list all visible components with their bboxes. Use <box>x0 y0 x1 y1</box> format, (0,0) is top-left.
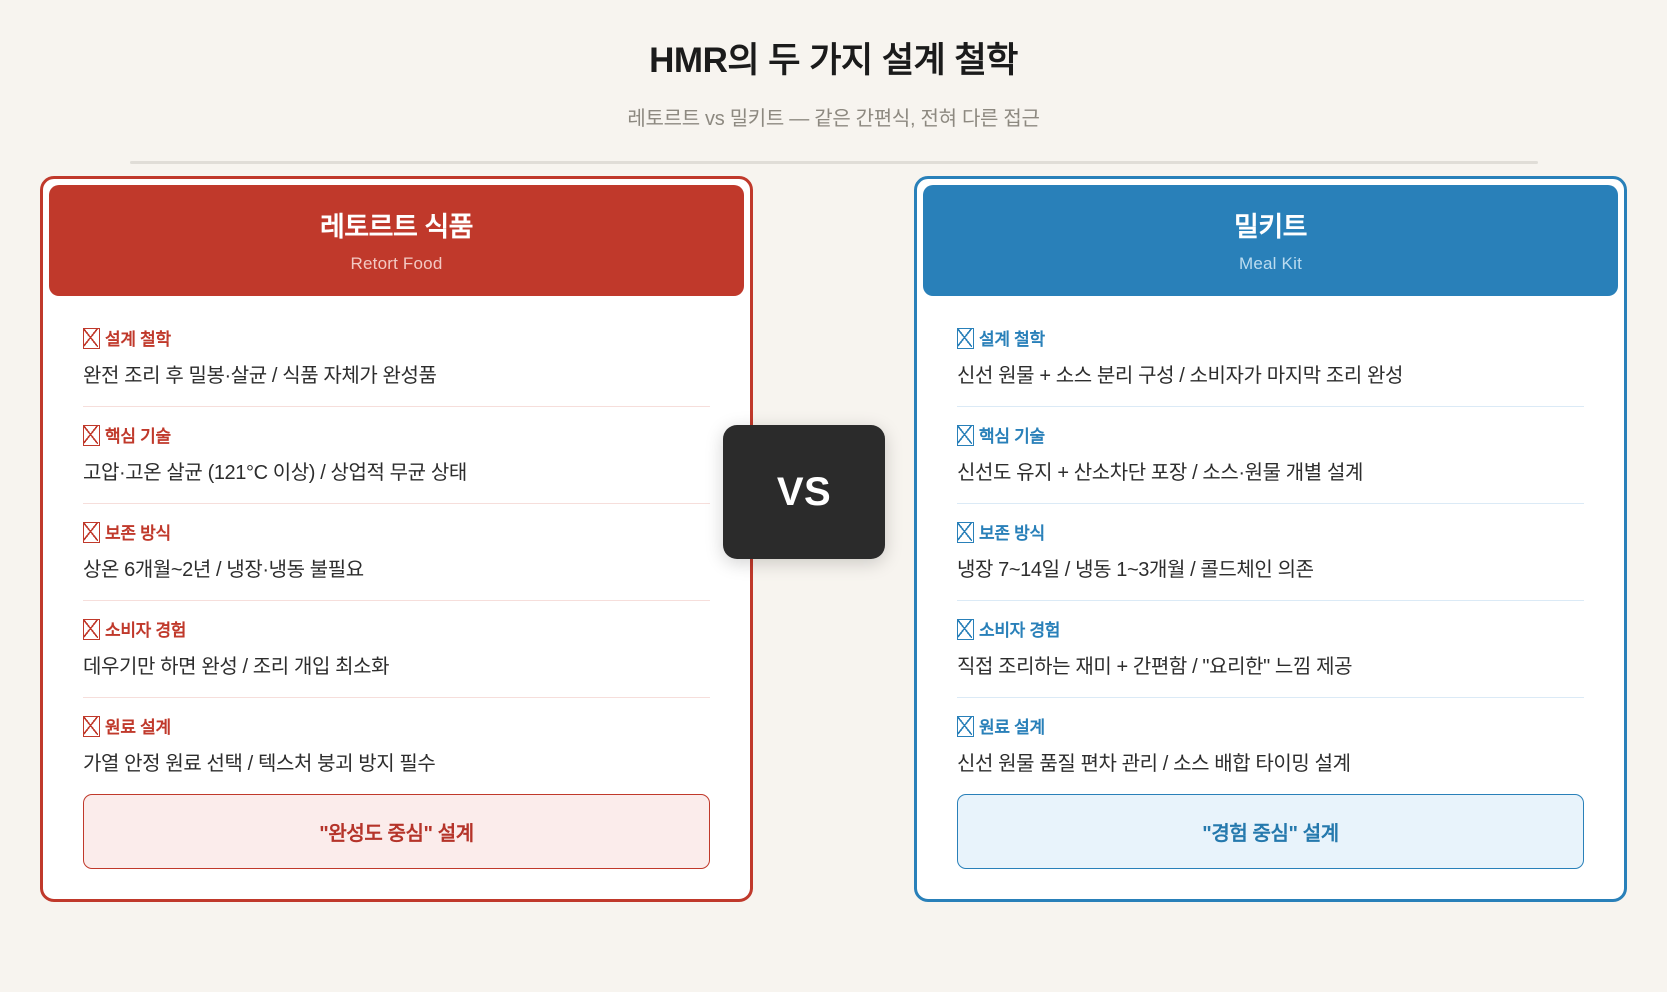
row-value: 고압·고온 살균 (121°C 이상) / 상업적 무균 상태 <box>83 460 710 487</box>
table-row: 소비자 경험 데우기만 하면 완성 / 조리 개입 최소화 <box>83 600 710 697</box>
row-value: 신선 원물 품질 편차 관리 / 소스 배합 타이밍 설계 <box>957 751 1584 778</box>
card-footer-retort: "완성도 중심" 설계 <box>43 794 750 899</box>
row-label: 원료 설계 <box>957 713 1584 738</box>
table-row: 원료 설계 신선 원물 품질 편차 관리 / 소스 배합 타이밍 설계 <box>957 697 1584 794</box>
missing-glyph-icon <box>957 716 972 735</box>
header: HMR의 두 가지 설계 철학 레토르트 vs 밀키트 — 같은 간편식, 전혀… <box>0 0 1667 164</box>
row-value: 상온 6개월~2년 / 냉장·냉동 불필요 <box>83 557 710 584</box>
card-rows-retort: 설계 철학 완전 조리 후 밀봉·살균 / 식품 자체가 완성품 핵심 기술 고… <box>43 296 750 794</box>
missing-glyph-icon <box>83 619 98 638</box>
page-title: HMR의 두 가지 설계 철학 <box>0 40 1667 82</box>
row-label-text: 핵심 기술 <box>105 422 171 447</box>
row-value: 완전 조리 후 밀봉·살균 / 식품 자체가 완성품 <box>83 363 710 390</box>
row-label-text: 보존 방식 <box>105 519 171 544</box>
table-row: 핵심 기술 신선도 유지 + 산소차단 포장 / 소스·원물 개별 설계 <box>957 406 1584 503</box>
table-row: 핵심 기술 고압·고온 살균 (121°C 이상) / 상업적 무균 상태 <box>83 406 710 503</box>
row-label: 설계 철학 <box>957 325 1584 350</box>
missing-glyph-icon <box>957 522 972 541</box>
missing-glyph-icon <box>83 716 98 735</box>
vs-badge: VS <box>723 425 885 559</box>
table-row: 소비자 경험 직접 조리하는 재미 + 간편함 / "요리한" 느낌 제공 <box>957 600 1584 697</box>
row-value: 직접 조리하는 재미 + 간편함 / "요리한" 느낌 제공 <box>957 654 1584 681</box>
missing-glyph-icon <box>83 522 98 541</box>
status-badge: "경험 중심" 설계 <box>957 794 1584 869</box>
row-label: 소비자 경험 <box>957 616 1584 641</box>
missing-glyph-icon <box>83 328 98 347</box>
card-title: 밀키트 <box>933 211 1608 245</box>
row-label-text: 보존 방식 <box>979 519 1045 544</box>
row-value: 신선 원물 + 소스 분리 구성 / 소비자가 마지막 조리 완성 <box>957 363 1584 390</box>
row-label-text: 설계 철학 <box>105 325 171 350</box>
page-subtitle: 레토르트 vs 밀키트 — 같은 간편식, 전혀 다른 접근 <box>0 102 1667 131</box>
card-header-retort: 레토르트 식품 Retort Food <box>49 185 744 296</box>
row-label: 보존 방식 <box>957 519 1584 544</box>
table-row: 보존 방식 냉장 7~14일 / 냉동 1~3개월 / 콜드체인 의존 <box>957 503 1584 600</box>
table-row: 설계 철학 완전 조리 후 밀봉·살균 / 식품 자체가 완성품 <box>83 310 710 406</box>
card-title: 레토르트 식품 <box>59 211 734 245</box>
missing-glyph-icon <box>957 619 972 638</box>
row-value: 가열 안정 원료 선택 / 텍스처 붕괴 방지 필수 <box>83 751 710 778</box>
row-label: 핵심 기술 <box>83 422 710 447</box>
row-label-text: 핵심 기술 <box>979 422 1045 447</box>
row-value: 데우기만 하면 완성 / 조리 개입 최소화 <box>83 654 710 681</box>
missing-glyph-icon <box>957 425 972 444</box>
row-label: 원료 설계 <box>83 713 710 738</box>
row-label: 보존 방식 <box>83 519 710 544</box>
card-mealkit: 밀키트 Meal Kit 설계 철학 신선 원물 + 소스 분리 구성 / 소비… <box>914 176 1627 902</box>
card-footer-mealkit: "경험 중심" 설계 <box>917 794 1624 899</box>
row-label-text: 원료 설계 <box>105 713 171 738</box>
table-row: 보존 방식 상온 6개월~2년 / 냉장·냉동 불필요 <box>83 503 710 600</box>
row-value: 냉장 7~14일 / 냉동 1~3개월 / 콜드체인 의존 <box>957 557 1584 584</box>
row-label: 설계 철학 <box>83 325 710 350</box>
row-label-text: 설계 철학 <box>979 325 1045 350</box>
row-label: 소비자 경험 <box>83 616 710 641</box>
row-label-text: 소비자 경험 <box>105 616 186 641</box>
status-badge: "완성도 중심" 설계 <box>83 794 710 869</box>
card-subtitle: Retort Food <box>59 254 734 274</box>
missing-glyph-icon <box>957 328 972 347</box>
row-label-text: 원료 설계 <box>979 713 1045 738</box>
table-row: 원료 설계 가열 안정 원료 선택 / 텍스처 붕괴 방지 필수 <box>83 697 710 794</box>
table-row: 설계 철학 신선 원물 + 소스 분리 구성 / 소비자가 마지막 조리 완성 <box>957 310 1584 406</box>
comparison-infographic: HMR의 두 가지 설계 철학 레토르트 vs 밀키트 — 같은 간편식, 전혀… <box>0 0 1667 992</box>
missing-glyph-icon <box>83 425 98 444</box>
card-rows-mealkit: 설계 철학 신선 원물 + 소스 분리 구성 / 소비자가 마지막 조리 완성 … <box>917 296 1624 794</box>
card-retort: 레토르트 식품 Retort Food 설계 철학 완전 조리 후 밀봉·살균 … <box>40 176 753 902</box>
row-label-text: 소비자 경험 <box>979 616 1060 641</box>
row-value: 신선도 유지 + 산소차단 포장 / 소스·원물 개별 설계 <box>957 460 1584 487</box>
card-header-mealkit: 밀키트 Meal Kit <box>923 185 1618 296</box>
row-label: 핵심 기술 <box>957 422 1584 447</box>
card-subtitle: Meal Kit <box>933 254 1608 274</box>
